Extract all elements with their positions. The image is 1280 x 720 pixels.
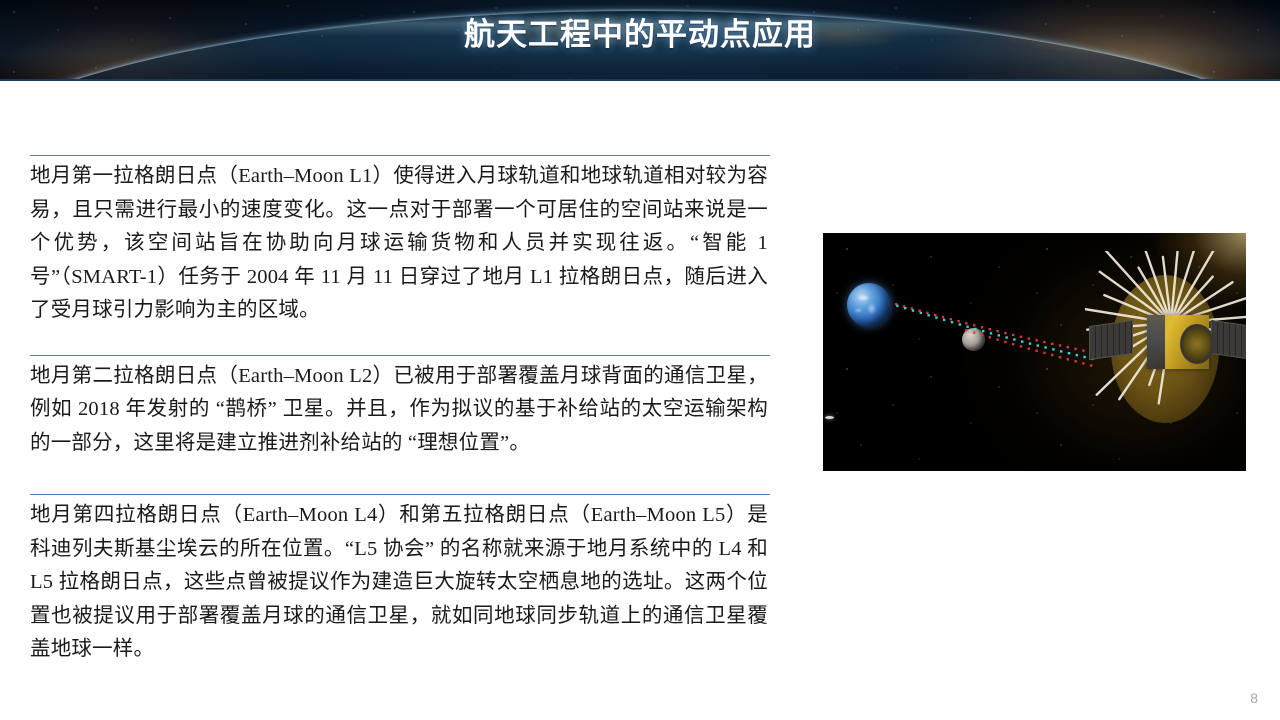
lens-flare-icon <box>825 416 834 419</box>
page-number: 8 <box>1250 690 1258 706</box>
antenna-ring <box>1180 324 1214 364</box>
paragraph-divider <box>30 355 770 356</box>
page-title: 航天工程中的平动点应用 <box>0 0 1280 79</box>
text-column: 地月第一拉格朗日点（Earth–Moon L1）使得进入月球轨道和地球轨道相对较… <box>30 155 770 667</box>
paragraph-block-em-l2: 地月第二拉格朗日点（Earth–Moon L2）已被用于部署覆盖月球背面的通信卫… <box>30 355 770 461</box>
solar-panel-right <box>1211 320 1246 360</box>
spacer <box>30 460 770 494</box>
spacer <box>30 328 770 355</box>
paragraph-text: 地月第一拉格朗日点（Earth–Moon L1）使得进入月球轨道和地球轨道相对较… <box>30 160 770 328</box>
solar-panel-left <box>1089 320 1133 360</box>
slide-body: 地月第一拉格朗日点（Earth–Moon L1）使得进入月球轨道和地球轨道相对较… <box>0 79 1280 720</box>
slide-header-banner: 航天工程中的平动点应用 <box>0 0 1280 81</box>
satellite-bus-shadow <box>1147 315 1165 369</box>
space-illustration <box>823 233 1246 471</box>
earth-icon <box>847 283 891 327</box>
moon-icon <box>962 328 985 351</box>
paragraph-block-em-l1: 地月第一拉格朗日点（Earth–Moon L1）使得进入月球轨道和地球轨道相对较… <box>30 155 770 328</box>
paragraph-text: 地月第二拉格朗日点（Earth–Moon L2）已被用于部署覆盖月球背面的通信卫… <box>30 360 770 461</box>
paragraph-divider <box>30 494 770 495</box>
paragraph-text: 地月第四拉格朗日点（Earth–Moon L4）和第五拉格朗日点（Earth–M… <box>30 499 770 667</box>
paragraph-divider <box>30 155 770 156</box>
relay-satellite-icon <box>1085 251 1246 441</box>
paragraph-block-em-l4-l5: 地月第四拉格朗日点（Earth–Moon L4）和第五拉格朗日点（Earth–M… <box>30 494 770 667</box>
